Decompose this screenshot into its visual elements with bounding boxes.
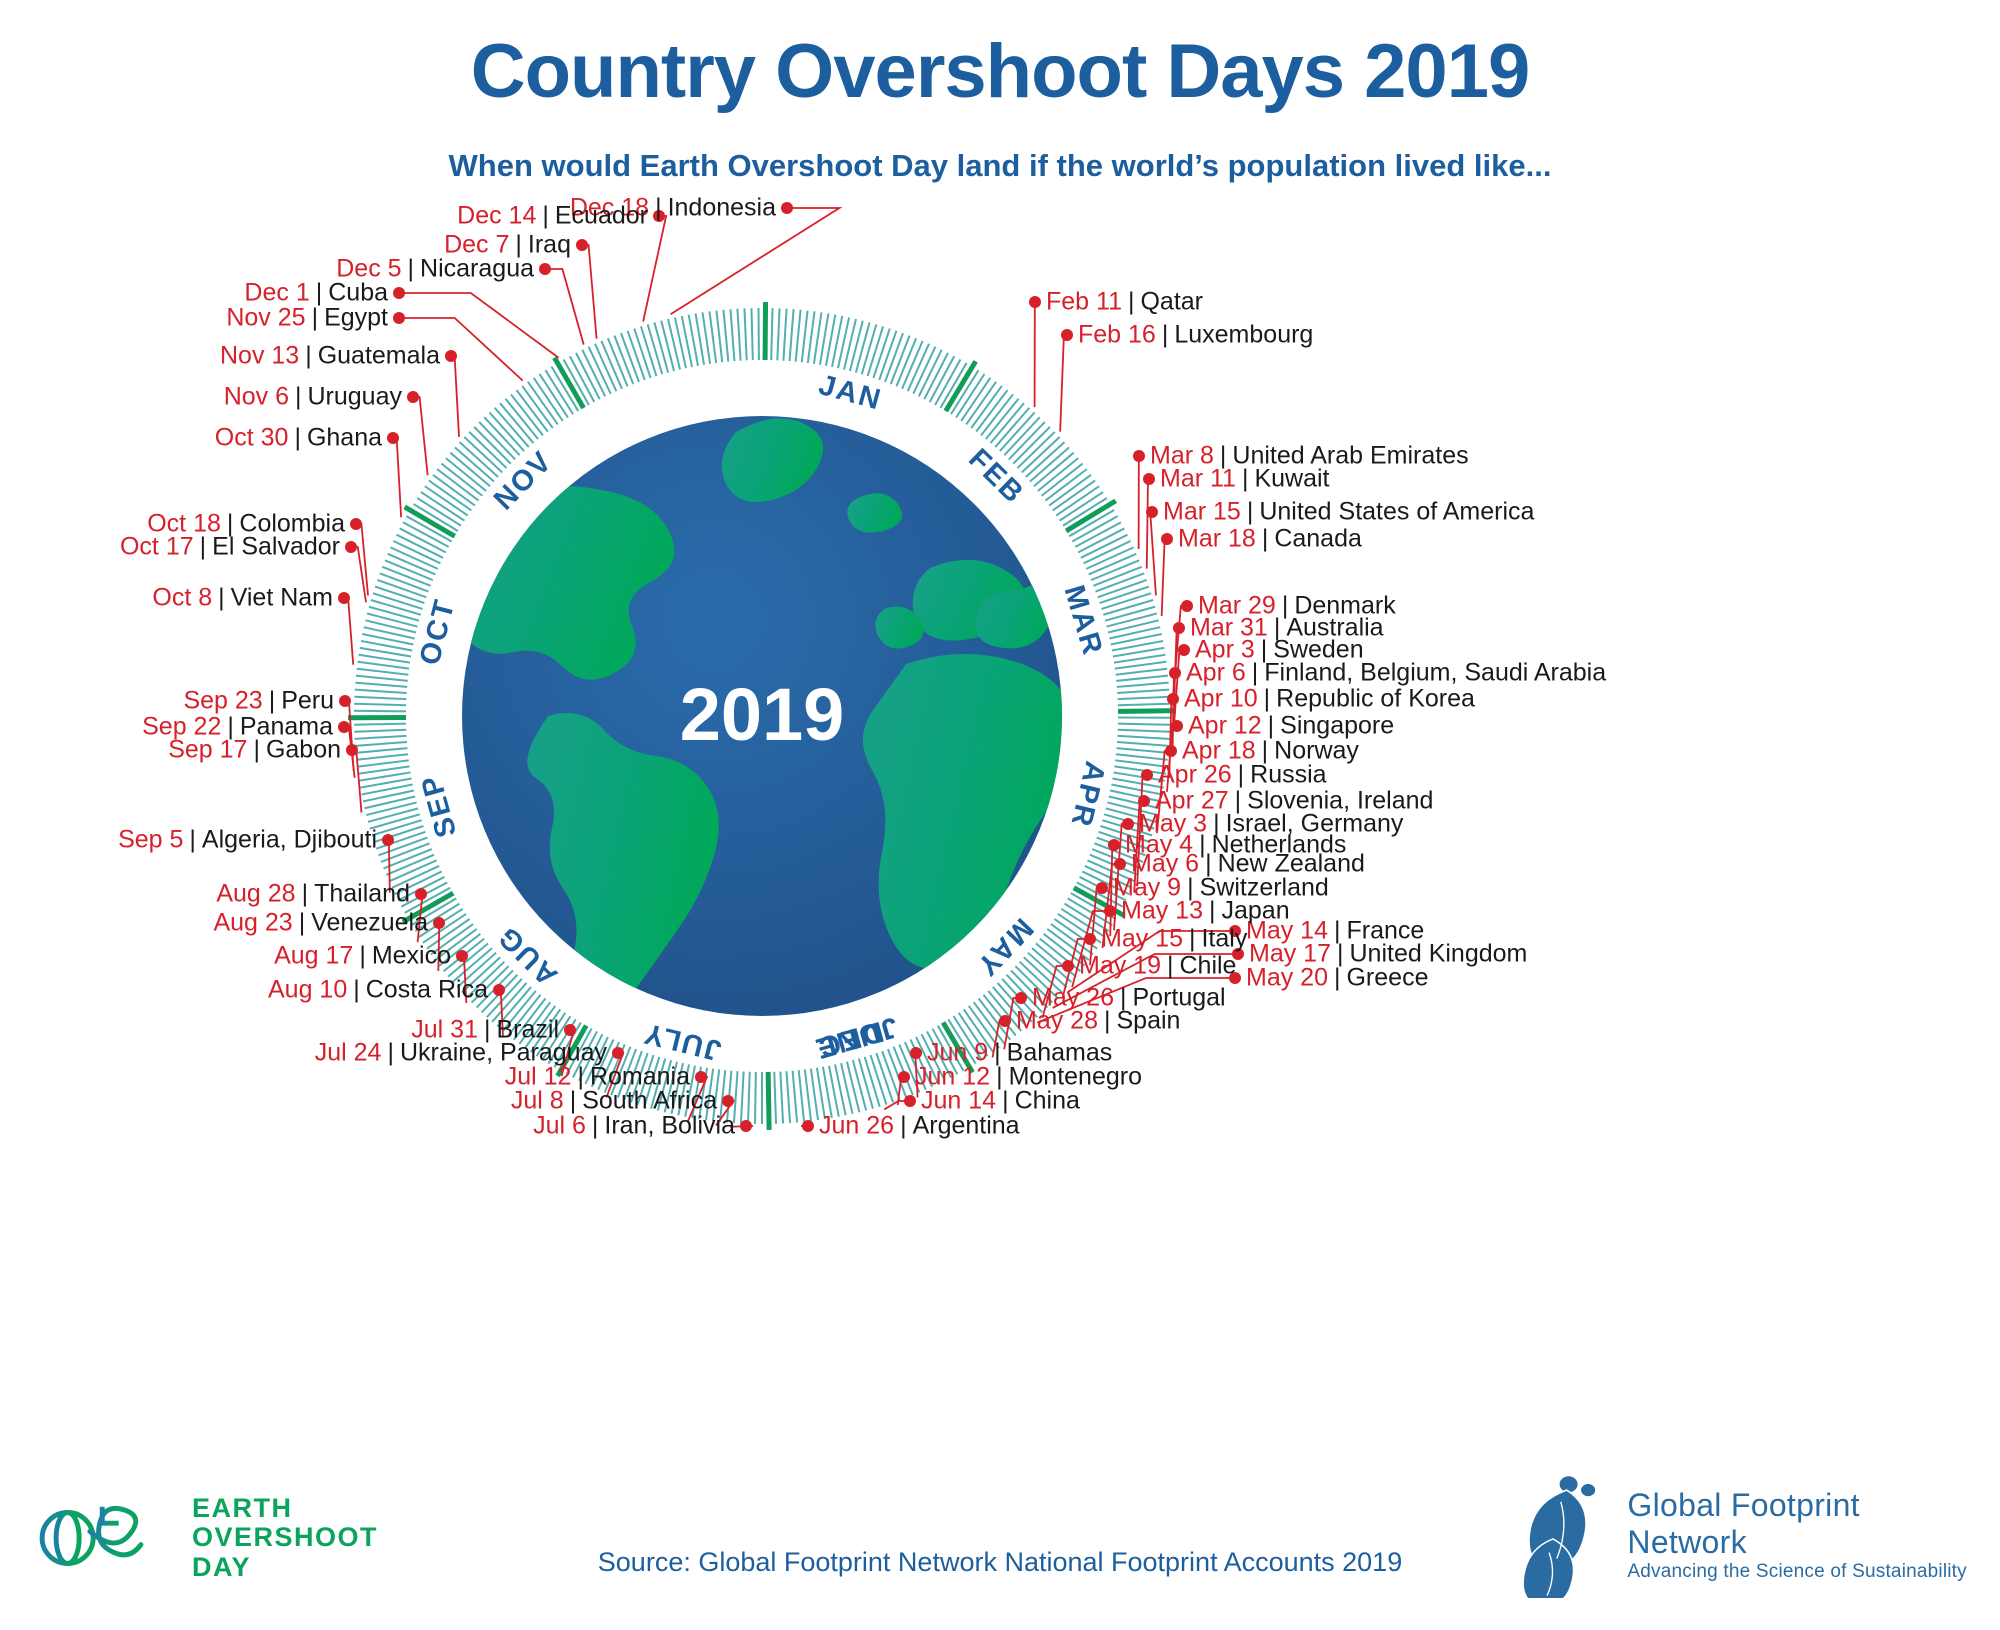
country-name: Bahamas [1007,1039,1113,1067]
country-overshoot-label[interactable]: Aug 17|Mexico [274,944,451,969]
leader-line [643,216,666,322]
country-overshoot-label[interactable]: Jun 14|China [921,1089,1080,1114]
day-tick [991,403,1024,443]
day-tick [522,386,553,428]
day-tick [365,620,416,632]
day-tick [808,311,815,363]
day-tick [354,730,406,732]
anchor-dot [1104,905,1116,917]
label-separator: | [1241,498,1260,526]
country-name: Iraq [528,231,571,259]
day-tick [723,310,728,362]
anchor-dot [898,1071,910,1083]
label-separator: | [564,1087,583,1115]
country-overshoot-label[interactable]: May 15|Italy [1101,927,1247,952]
month-label-may: MAY [969,912,1039,983]
day-tick [847,1062,859,1112]
anchor-dot [1029,296,1041,308]
anchor-dot [433,917,445,929]
day-tick [373,593,423,609]
day-tick [856,322,870,372]
country-name: Guatemala [318,342,440,370]
anchor-dot [1108,839,1120,851]
country-name: Ghana [307,424,382,452]
label-separator: | [988,1039,1007,1067]
anchor-dot [1178,644,1190,656]
day-tick [1042,464,1083,496]
day-tick [1117,683,1169,687]
anchor-dot [1122,818,1134,830]
day-tick [528,382,558,425]
anchor-dot [338,721,350,733]
country-overshoot-label[interactable]: Apr 10|Republic of Korea [1184,687,1475,712]
country-overshoot-label[interactable]: May 13|Japan [1121,899,1290,924]
label-separator: | [402,255,421,283]
day-tick [460,442,499,477]
country-overshoot-label[interactable]: May 28|Spain [1016,1009,1180,1034]
label-separator: | [381,1039,400,1067]
day-tick [796,310,801,362]
label-separator: | [1161,952,1180,980]
day-tick [799,1070,804,1122]
country-overshoot-label[interactable]: Dec 1|Cuba [244,281,388,306]
label-separator: | [1258,685,1277,713]
day-tick [981,394,1013,435]
month-boundary-tick [1118,711,1176,712]
label-separator: | [353,942,372,970]
country-overshoot-label[interactable]: Sep 17|Gabon [168,738,341,763]
country-overshoot-label[interactable]: Sep 23|Peru [183,689,334,714]
day-tick [868,326,883,376]
overshoot-date: Apr 18 [1182,737,1256,765]
day-tick [1115,662,1167,669]
country-overshoot-label[interactable]: Jun 26|Argentina [819,1114,1020,1139]
label-separator: | [996,1087,1015,1115]
country-overshoot-label[interactable]: Mar 29|Denmark [1198,594,1396,619]
anchor-dot [393,312,405,324]
day-tick [1116,676,1168,681]
anchor-dot [382,834,394,846]
label-separator: | [1181,874,1200,902]
day-tick [355,683,407,687]
overshoot-date: May 20 [1246,964,1328,992]
day-tick [505,399,538,439]
day-tick [446,458,486,491]
country-name: Nicaragua [420,255,534,283]
country-name: Costa Rica [366,976,488,1004]
day-tick [1116,754,1168,760]
country-name: Italy [1201,925,1247,953]
overshoot-date: Aug 17 [274,942,353,970]
day-tick [1117,736,1169,739]
country-name: Egypt [324,304,388,332]
anchor-dot [722,1095,734,1107]
country-name: Argentina [913,1112,1020,1140]
anchor-dot [1167,693,1179,705]
day-tick [1061,909,1105,937]
country-overshoot-label[interactable]: May 3|Israel, Germany [1139,812,1403,837]
day-tick [1103,600,1153,615]
anchor-dot [393,287,405,299]
country-name: Slovenia, Ireland [1247,787,1433,815]
month-boundary-tick [946,361,976,411]
day-tick [425,486,468,515]
anchor-dot [456,950,468,962]
day-tick [433,475,475,506]
anchor-dot [910,1047,922,1059]
country-overshoot-label[interactable]: Apr 12|Singapore [1188,714,1394,739]
label-separator: | [194,533,213,561]
country-name: Singapore [1280,712,1394,740]
anchor-dot [338,592,350,604]
country-overshoot-label[interactable]: May 17|United Kingdom [1249,942,1527,967]
country-name: Russia [1250,761,1326,789]
day-tick [489,412,524,451]
day-tick [511,394,543,435]
country-overshoot-label[interactable]: May 19|Chile [1079,954,1236,979]
day-tick [540,374,568,418]
overshoot-date: Aug 23 [213,909,292,937]
day-tick [495,408,529,447]
country-name: Greece [1346,964,1428,992]
anchor-dot [1169,667,1181,679]
day-tick [641,326,656,376]
day-tick [479,422,515,459]
label-separator: | [1156,321,1175,349]
day-tick [484,417,519,455]
country-overshoot-label[interactable]: Mar 11|Kuwait [1160,467,1330,492]
day-tick [850,321,863,371]
day-tick [354,697,406,699]
country-name: Iran, Bolivia [604,1112,735,1140]
day-tick [966,382,996,425]
day-tick [1026,442,1065,477]
overshoot-wheel: 2019 JANFEBMARAPRMAYJUNEJULYAUGSEPOCTNOV… [0,0,2000,1630]
month-label-mar: MAR [1058,582,1109,660]
anchor-dot [1061,329,1073,341]
country-overshoot-label[interactable]: May 26|Portugal [1032,986,1226,1011]
day-tick [1030,447,1069,481]
country-name: Gabon [266,736,341,764]
country-name: Norway [1274,737,1359,765]
country-overshoot-label[interactable]: Apr 26|Russia [1158,763,1327,788]
day-tick [1109,796,1160,808]
overshoot-date: Apr 10 [1184,685,1258,713]
day-tick [1117,690,1169,693]
anchor-dot [904,1095,916,1107]
eod-logo-line-1: EARTH [192,1494,378,1523]
day-tick [1009,422,1045,459]
month-boundary-tick [768,1072,769,1130]
country-overshoot-label[interactable]: Mar 15|United States of America [1163,500,1534,525]
day-tick [648,324,663,374]
label-separator: | [289,383,308,411]
day-tick [771,308,772,360]
day-tick [368,808,418,821]
overshoot-date: Apr 12 [1188,712,1262,740]
globe-graphic: 2019 [450,416,1074,1016]
label-separator: | [306,304,325,332]
day-tick [783,309,786,361]
day-tick [1034,453,1074,487]
overshoot-date: May 26 [1032,984,1114,1012]
label-separator: | [247,736,266,764]
country-name: Portugal [1132,984,1225,1012]
day-tick [358,662,410,669]
day-tick [1117,742,1169,746]
anchor-dot [445,350,457,362]
country-overshoot-label[interactable]: Nov 13|Guatemala [220,344,440,369]
gfn-logo-name: Global Footprint Network [1627,1487,1980,1561]
month-boundary-tick [554,358,583,408]
day-tick [1004,417,1039,455]
overshoot-date: Apr 27 [1155,787,1229,815]
leader-line [582,245,597,339]
anchor-dot [407,391,419,403]
day-tick [356,676,408,681]
country-overshoot-label[interactable]: Feb 16|Luxembourg [1078,323,1313,348]
day-tick [668,319,680,370]
leaf-footprint-icon [1510,1473,1617,1598]
country-name: United States of America [1259,498,1534,526]
overshoot-date: Jun 14 [921,1087,996,1115]
country-overshoot-label[interactable]: Apr 27|Slovenia, Ireland [1155,789,1433,814]
day-tick [474,427,511,464]
day-tick [1108,620,1159,632]
country-overshoot-label[interactable]: Aug 28|Thailand [216,882,410,907]
day-tick [716,311,722,363]
country-overshoot-label[interactable]: May 20|Greece [1246,966,1428,991]
day-tick [1056,486,1099,515]
overshoot-date: Mar 15 [1163,498,1241,526]
day-tick [421,492,464,521]
label-separator: | [1229,787,1248,815]
overshoot-date: Mar 8 [1150,442,1214,470]
label-separator: | [1262,712,1281,740]
leader-line [1150,512,1156,595]
overshoot-date: Mar 29 [1198,592,1276,620]
country-overshoot-label[interactable]: Sep 5|Algeria, Djibouti [118,828,377,853]
day-tick [358,766,409,773]
anchor-dot [1062,960,1074,972]
day-tick [545,370,573,414]
country-overshoot-label[interactable]: Oct 17|El Salvador [120,535,340,560]
day-tick [865,1057,880,1107]
day-tick [1118,730,1170,732]
label-separator: | [1328,964,1347,992]
month-label-sep: SEP [415,771,463,841]
day-tick [1117,748,1169,753]
day-tick [774,1072,776,1124]
label-separator: | [1214,442,1233,470]
day-tick [777,308,779,360]
overshoot-date: Feb 11 [1046,288,1122,316]
day-tick [355,736,407,739]
overshoot-date: Nov 6 [224,383,289,411]
day-tick [755,1072,756,1124]
day-tick [354,724,406,725]
day-tick [1118,724,1170,725]
country-name: Viet Nam [231,584,333,612]
overshoot-date: Jun 9 [927,1039,988,1067]
day-tick [741,1072,744,1124]
country-overshoot-label[interactable]: Nov 25|Egypt [226,306,388,331]
country-overshoot-label[interactable]: Apr 6|Finland, Belgium, Saudi Arabia [1186,661,1606,686]
day-tick [429,480,471,510]
leader-line [1060,335,1067,432]
day-tick [534,378,563,421]
day-tick [354,704,406,706]
country-name: El Salvador [212,533,340,561]
day-tick [751,308,752,360]
day-tick [661,321,674,371]
country-overshoot-label[interactable]: Dec 14|Ecuador [457,204,648,229]
day-tick [357,669,409,675]
country-overshoot-label[interactable]: Mar 18|Canada [1178,527,1362,552]
day-tick [417,498,461,526]
label-separator: | [1232,761,1251,789]
day-tick [500,403,533,443]
label-separator: | [536,202,555,230]
label-separator: | [1256,525,1275,553]
day-tick [976,390,1007,432]
label-separator: | [894,1112,913,1140]
label-separator: | [1114,984,1133,1012]
country-overshoot-label[interactable]: Oct 30|Ghana [215,426,382,451]
day-tick [355,690,407,693]
label-separator: | [1183,925,1202,953]
anchor-dot [740,1120,752,1132]
country-overshoot-label[interactable]: Oct 8|Viet Nam [152,586,333,611]
country-overshoot-label[interactable]: Aug 10|Costa Rica [268,978,488,1003]
country-name: China [1015,1087,1080,1115]
country-overshoot-label[interactable]: Apr 18|Norway [1182,739,1359,764]
overshoot-date: Dec 14 [457,202,536,230]
country-overshoot-label[interactable]: Aug 23|Venezuela [213,911,428,936]
country-name: Chile [1179,952,1236,980]
overshoot-date: Jun 26 [819,1112,894,1140]
label-separator: | [1256,737,1275,765]
day-tick [455,447,494,481]
anchor-dot [576,239,588,251]
month-boundary-tick [405,507,455,536]
day-tick [1049,475,1091,506]
day-tick [372,820,422,835]
country-name: Uruguay [308,383,403,411]
day-tick [448,943,488,976]
anchor-dot [1171,720,1183,732]
overshoot-date: Jul 6 [533,1112,586,1140]
country-name: Luxembourg [1174,321,1313,349]
eod-logo-line-3: DAY [192,1553,378,1582]
leader-line [671,208,840,314]
country-overshoot-label[interactable]: Nov 6|Uruguay [224,385,402,410]
day-tick [369,607,419,621]
leader-line [356,524,368,595]
anchor-dot [612,1047,624,1059]
country-name: Ecuador [555,202,648,230]
country-name: United Arab Emirates [1232,442,1468,470]
day-tick [1045,469,1086,500]
day-tick [995,408,1029,447]
country-name: Mexico [372,942,451,970]
earth-overshoot-day-logo: EARTH OVERSHOOT DAY [38,1478,378,1598]
day-tick [654,322,668,372]
day-tick [1013,427,1050,464]
month-boundary-tick [1066,501,1116,531]
label-separator: | [649,194,668,222]
label-separator: | [288,424,307,452]
day-tick [986,399,1019,439]
anchor-dot [493,984,505,996]
anchor-dot [415,888,427,900]
overshoot-date: May 9 [1113,874,1181,902]
anchor-dot [387,432,399,444]
day-tick [355,742,407,746]
overshoot-date: Oct 17 [120,533,194,561]
leader-line [1162,539,1167,616]
country-name: South Africa [582,1087,717,1115]
day-tick [709,311,716,363]
overshoot-date: Jul 24 [315,1039,382,1067]
country-name: Indonesia [668,194,776,222]
day-tick [1038,458,1078,491]
day-tick [1118,697,1170,699]
leader-line [1147,479,1149,569]
anchor-dot [350,518,362,530]
leader-line [344,598,353,665]
infographic-canvas: Country Overshoot Days 2019 When would E… [0,0,2000,1630]
anchor-dot [1181,600,1193,612]
anchor-dot [781,202,793,214]
overshoot-date: Dec 1 [244,279,309,307]
overshoot-date: Nov 13 [220,342,299,370]
label-separator: | [263,687,282,715]
day-tick [1022,437,1060,473]
country-overshoot-label[interactable]: Jun 9|Bahamas [927,1041,1112,1066]
country-overshoot-label[interactable]: Jun 12|Montenegro [915,1065,1142,1090]
day-tick [1060,492,1103,521]
country-overshoot-label[interactable]: May 9|Switzerland [1113,876,1329,901]
country-name: Cuba [328,279,388,307]
leader-line [413,397,428,475]
day-tick [487,979,522,1017]
day-tick [1102,593,1152,609]
day-tick [748,1072,750,1124]
label-separator: | [347,976,366,1004]
country-name: France [1346,917,1424,945]
day-tick [786,1071,790,1123]
country-overshoot-label[interactable]: Jul 8|South Africa [511,1089,717,1114]
day-tick [370,814,420,828]
global-footprint-network-logo: Global Footprint Network Advancing the S… [1510,1470,1980,1600]
label-separator: | [990,1063,1009,1091]
country-overshoot-label[interactable]: Mar 8|United Arab Emirates [1150,444,1469,469]
anchor-dot [1143,473,1155,485]
anchor-dot [539,263,551,275]
country-name: Algeria, Djibouti [202,826,377,854]
country-overshoot-label[interactable]: Feb 11|Qatar [1046,290,1203,315]
day-tick [841,1063,853,1114]
day-tick [802,311,808,363]
day-tick [780,1072,783,1124]
country-name: Montenegro [1009,1063,1142,1091]
anchor-dot [1084,933,1096,945]
country-overshoot-label[interactable]: Jul 6|Iran, Bolivia [533,1114,735,1139]
day-tick [367,614,417,627]
country-name: Venezuela [311,909,428,937]
day-tick [971,386,1002,428]
